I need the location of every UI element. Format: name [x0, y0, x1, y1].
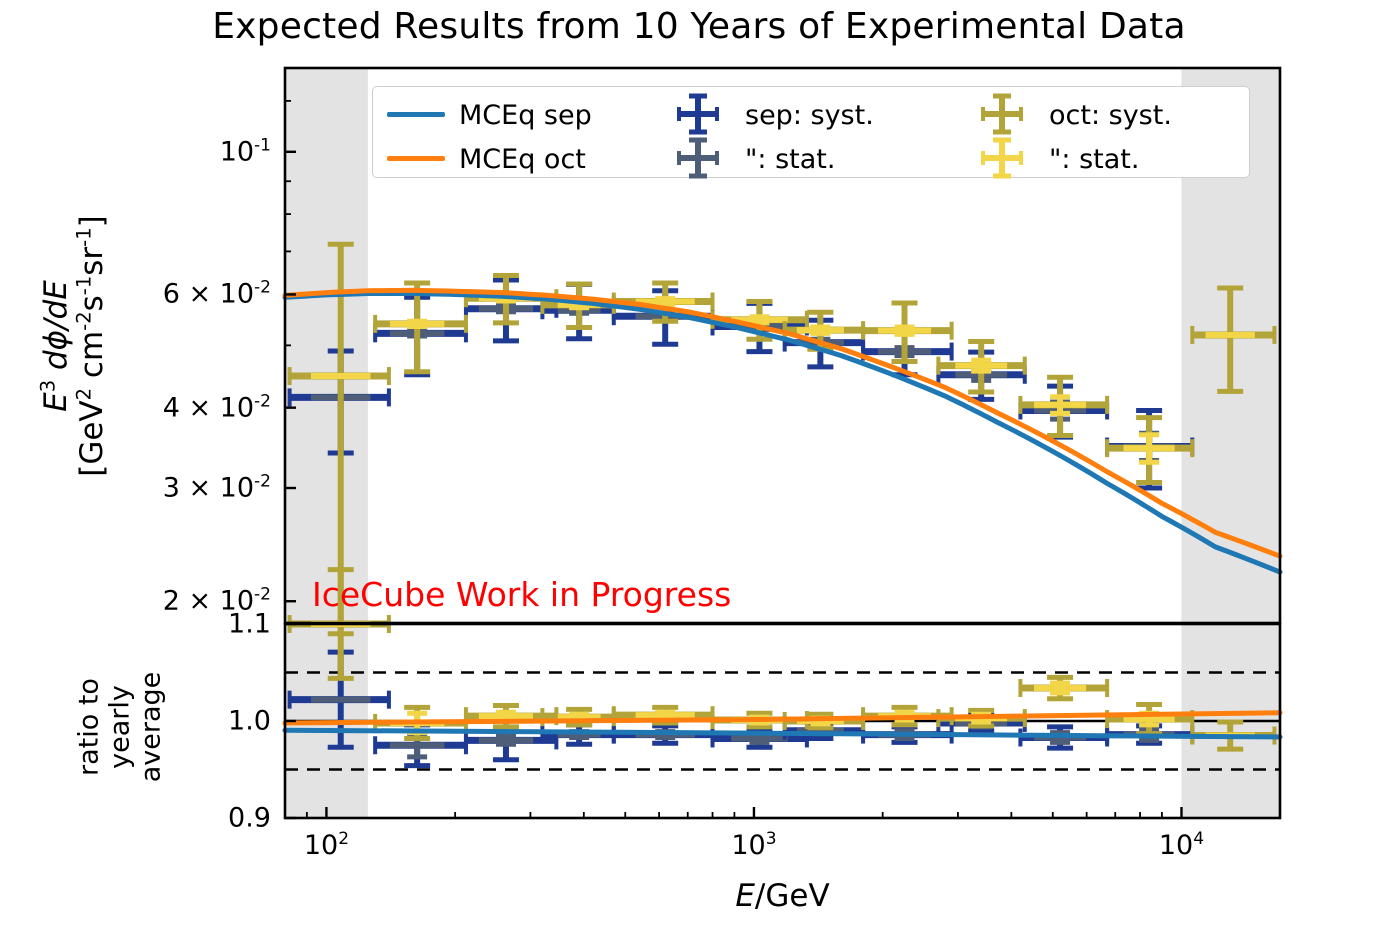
legend-entry-4[interactable] — [973, 91, 1031, 137]
legend-entry-2[interactable] — [669, 91, 727, 137]
legend-errorbar-icon — [669, 135, 727, 181]
legend-line-icon — [387, 112, 445, 117]
watermark-annotation: IceCube Work in Progress — [312, 575, 731, 614]
legend-errorbar-icon — [973, 91, 1031, 137]
ytick-label-ratio-0.9: 0.9 — [228, 803, 271, 834]
errorbar-group-flux-sep — [290, 280, 1193, 488]
xtick-label-1000: 103 — [731, 830, 776, 861]
ytick-label-flux-0.03: 3 × 10-2 — [163, 473, 271, 504]
legend-label-5: ": stat. — [1049, 144, 1139, 175]
legend-label-0: MCEq sep — [459, 100, 592, 131]
shaded-band-flux-0 — [285, 68, 368, 623]
legend-label-2: sep: syst. — [745, 100, 874, 131]
figure-root: Expected Results from 10 Years of Experi… — [0, 0, 1398, 934]
xaxis-label: E/GeV — [735, 878, 829, 914]
legend-label-3: ": stat. — [745, 144, 835, 175]
ytick-label-flux-0.06: 6 × 10-2 — [163, 279, 271, 310]
ytick-label-ratio-1.1: 1.1 — [228, 609, 271, 640]
yaxis-label-ratio: ratio toyearlyaverage — [74, 672, 167, 783]
legend-line-icon — [387, 156, 445, 161]
legend-entry-3[interactable] — [669, 135, 727, 181]
xtick-label-10000: 104 — [1159, 830, 1204, 861]
ytick-label-ratio-1: 1.0 — [228, 706, 271, 737]
chart-legend: MCEq sepMCEq octsep: syst.": stat.oct: s… — [372, 86, 1250, 178]
yaxis-label-flux: E3 dϕ/dE[GeV2 cm-2s-1sr-1] — [38, 215, 110, 477]
legend-label-1: MCEq oct — [459, 144, 586, 175]
legend-errorbar-icon — [669, 91, 727, 137]
legend-errorbar-icon — [973, 135, 1031, 181]
ytick-label-flux-0.04: 4 × 10-2 — [163, 392, 271, 423]
legend-entry-5[interactable] — [973, 135, 1031, 181]
legend-label-4: oct: syst. — [1049, 100, 1172, 131]
ytick-label-flux-0.1: 10-1 — [220, 136, 271, 167]
xtick-label-100: 102 — [304, 830, 349, 861]
